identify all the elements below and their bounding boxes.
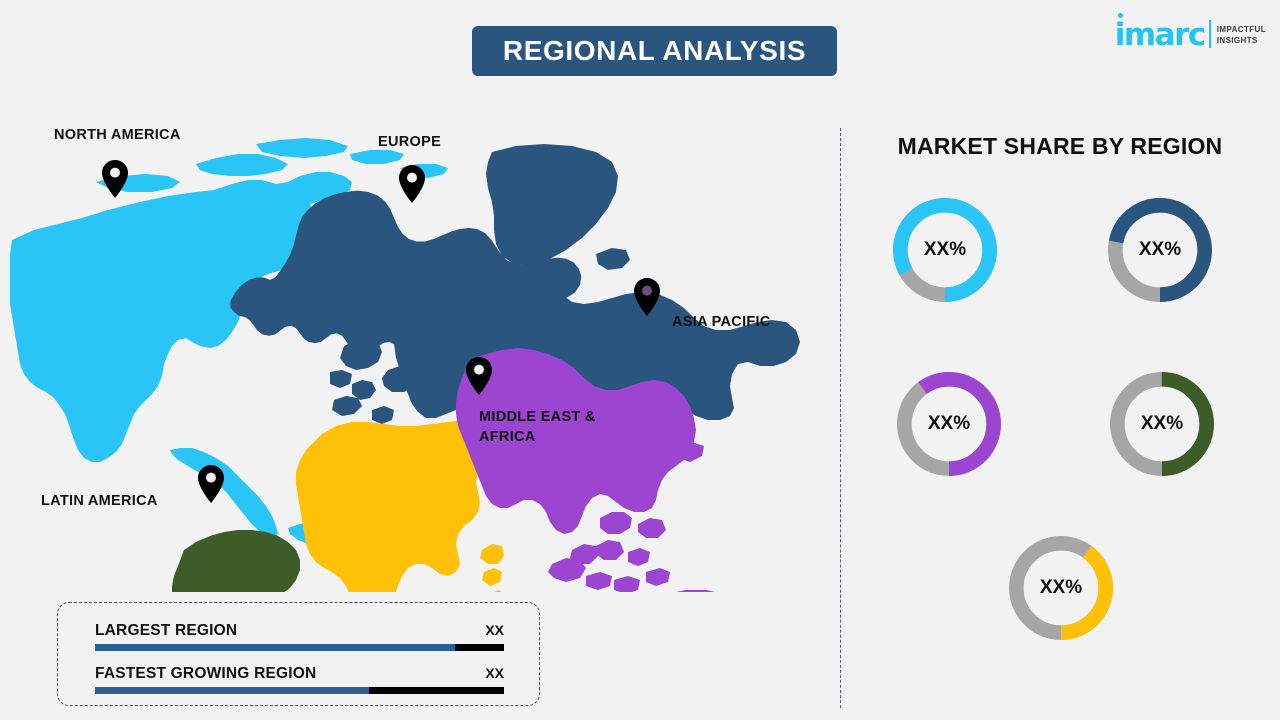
brand-wordmark: imarc (1115, 21, 1205, 50)
map-pin-latin-america-icon[interactable] (197, 465, 225, 503)
map-pin-asia-pacific-icon[interactable] (633, 278, 661, 316)
donut-value-north-america: XX% (886, 191, 1004, 309)
fastest-growing-region-bar-fill (95, 687, 369, 694)
largest-region-bar-track (95, 644, 504, 651)
logo-dot-icon (1118, 13, 1123, 18)
fastest-growing-region-value: XX (485, 665, 504, 681)
donut-chart-north-america: XX% (886, 191, 1004, 309)
donut-value-latin-america: XX% (1103, 365, 1221, 483)
fastest-growing-region-bar-track (95, 687, 504, 694)
map-label-europe: EUROPE (378, 133, 441, 153)
fastest-growing-region-label: FASTEST GROWING REGION (95, 665, 316, 683)
region-summary-box: LARGEST REGION XX FASTEST GROWING REGION… (57, 602, 540, 706)
donut-chart-europe: XX% (1101, 191, 1219, 309)
donut-chart-asia-pacific: XX% (890, 365, 1008, 483)
panel-divider (840, 128, 841, 708)
map-region-latin-america (172, 530, 300, 592)
brand-tagline: IMPACTFUL INSIGHTS (1217, 25, 1266, 50)
map-pin-europe-icon[interactable] (398, 165, 426, 203)
donut-value-asia-pacific: XX% (890, 365, 1008, 483)
map-label-asia-pacific: ASIA PACIFIC (672, 313, 771, 333)
brand-logo: imarc IMPACTFUL INSIGHTS (1115, 20, 1266, 50)
largest-region-bar-fill (95, 644, 455, 651)
map-label-north-america: NORTH AMERICA (54, 126, 181, 146)
donut-chart-middle-east-africa: XX% (1002, 529, 1120, 647)
logo-divider-bar (1209, 20, 1211, 48)
brand-tagline-line1: IMPACTFUL (1217, 25, 1266, 36)
donut-value-europe: XX% (1101, 191, 1219, 309)
page-title: REGIONAL ANALYSIS (503, 35, 806, 67)
donut-chart-latin-america: XX% (1103, 365, 1221, 483)
market-share-panel-title: MARKET SHARE BY REGION (840, 133, 1280, 160)
map-pin-north-america-icon[interactable] (101, 160, 129, 198)
map-label-middle-east-africa: MIDDLE EAST & AFRICA (479, 408, 629, 447)
brand-tagline-line2: INSIGHTS (1217, 36, 1266, 47)
largest-region-value: XX (485, 622, 504, 638)
brand-wordmark-text: imarc (1115, 17, 1205, 53)
largest-region-label: LARGEST REGION (95, 622, 237, 640)
page-title-plate: REGIONAL ANALYSIS (472, 26, 837, 76)
infographic-root: REGIONAL ANALYSIS imarc IMPACTFUL INSIGH… (0, 0, 1280, 720)
map-pin-middle-east-africa-icon[interactable] (465, 357, 493, 395)
largest-region-row: LARGEST REGION XX (95, 622, 504, 651)
fastest-growing-region-row: FASTEST GROWING REGION XX (95, 665, 504, 694)
donut-value-middle-east-africa: XX% (1002, 529, 1120, 647)
map-label-latin-america: LATIN AMERICA (41, 492, 158, 512)
